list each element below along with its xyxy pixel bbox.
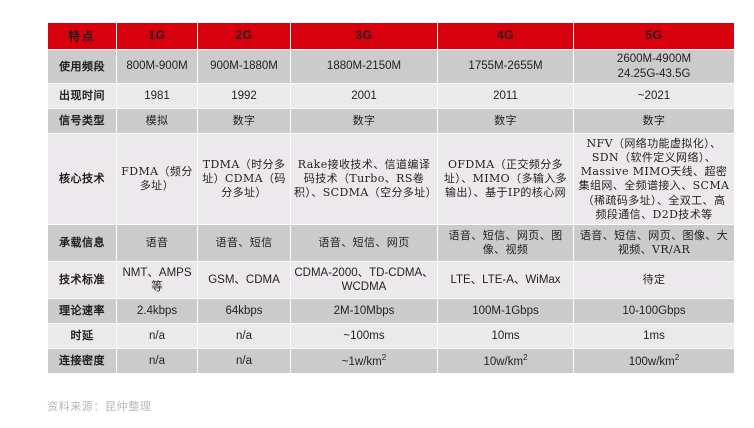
cell-latency-3g: ~100ms: [291, 324, 437, 348]
cell-theoretical-rate-1g: 2.4kbps: [117, 299, 197, 323]
header-3g: 3G: [291, 23, 437, 49]
cell-theoretical-rate-4g: 100M-1Gbps: [438, 299, 573, 323]
cell-core-technology-3g: Rake接收技术、信道编译码技术（Turbo、RS卷积）、SCDMA（空分多址）: [291, 134, 437, 224]
cell-core-technology-1g: FDMA（频分多址）: [117, 134, 197, 224]
cell-core-technology-2g: TDMA（时分多址）CDMA（码分多址）: [198, 134, 290, 224]
cell-frequency-band-3g: 1880M-2150M: [291, 50, 437, 83]
table-header-row: 特点 1G 2G 3G 4G 5G: [48, 23, 734, 49]
cell-frequency-band-1g: 800M-900M: [117, 50, 197, 83]
row-label-carried-information: 承载信息: [48, 225, 116, 261]
cell-appearance-time-4g: 2011: [438, 84, 573, 108]
cell-frequency-band-4g: 1755M-2655M: [438, 50, 573, 83]
cell-core-technology-5g: NFV（网络功能虚拟化）、SDN（软件定义网络）、Massive MIMO天线、…: [574, 134, 734, 224]
comparison-table: 特点 1G 2G 3G 4G 5G 使用频段 800M-900M 900M-18…: [47, 22, 735, 374]
row-label-connection-density: 连接密度: [48, 349, 116, 373]
slide-page: 特点 1G 2G 3G 4G 5G 使用频段 800M-900M 900M-18…: [0, 0, 754, 428]
header-1g: 1G: [117, 23, 197, 49]
generations-comparison-table: 特点 1G 2G 3G 4G 5G 使用频段 800M-900M 900M-18…: [47, 22, 731, 374]
header-feature: 特点: [48, 23, 116, 49]
table-body: 使用频段 800M-900M 900M-1880M 1880M-2150M 17…: [48, 50, 734, 373]
source-note: 资料来源：昆仲整理: [47, 398, 151, 414]
cell-connection-density-3g: ~1w/km2: [291, 349, 437, 373]
cell-carried-information-4g: 语音、短信、网页、图像、视频: [438, 225, 573, 261]
row-label-technical-standard: 技术标准: [48, 262, 116, 298]
cell-appearance-time-1g: 1981: [117, 84, 197, 108]
header-5g: 5G: [574, 23, 734, 49]
table-row: 使用频段 800M-900M 900M-1880M 1880M-2150M 17…: [48, 50, 734, 83]
table-row: 连接密度 n/a n/a ~1w/km2 10w/km2 100w/km2: [48, 349, 734, 373]
cell-carried-information-1g: 语音: [117, 225, 197, 261]
table-row: 信号类型 模拟 数字 数字 数字 数字: [48, 109, 734, 133]
cell-theoretical-rate-3g: 2M-10Mbps: [291, 299, 437, 323]
row-label-theoretical-rate: 理论速率: [48, 299, 116, 323]
row-label-signal-type: 信号类型: [48, 109, 116, 133]
cell-signal-type-4g: 数字: [438, 109, 573, 133]
cell-latency-2g: n/a: [198, 324, 290, 348]
table-row: 技术标准 NMT、AMPS等 GSM、CDMA CDMA-2000、TD-CDM…: [48, 262, 734, 298]
cell-carried-information-5g: 语音、短信、网页、图像、大视频、VR/AR: [574, 225, 734, 261]
cell-frequency-band-2g: 900M-1880M: [198, 50, 290, 83]
cell-frequency-band-5g: 2600M-4900M 24.25G-43.5G: [574, 50, 734, 83]
cell-connection-density-2g: n/a: [198, 349, 290, 373]
cell-carried-information-3g: 语音、短信、网页: [291, 225, 437, 261]
cell-latency-4g: 10ms: [438, 324, 573, 348]
cell-appearance-time-2g: 1992: [198, 84, 290, 108]
row-label-appearance-time: 出现时间: [48, 84, 116, 108]
cell-connection-density-4g: 10w/km2: [438, 349, 573, 373]
cell-carried-information-2g: 语音、短信: [198, 225, 290, 261]
cell-connection-density-1g: n/a: [117, 349, 197, 373]
cell-technical-standard-1g: NMT、AMPS等: [117, 262, 197, 298]
cell-core-technology-4g: OFDMA（正交频分多址）、MIMO（多输入多输出）、基于IP的核心网: [438, 134, 573, 224]
cell-technical-standard-3g: CDMA-2000、TD-CDMA、WCDMA: [291, 262, 437, 298]
header-4g: 4G: [438, 23, 573, 49]
header-2g: 2G: [198, 23, 290, 49]
row-label-core-technology: 核心技术: [48, 134, 116, 224]
cell-technical-standard-4g: LTE、LTE-A、WiMax: [438, 262, 573, 298]
row-label-latency: 时延: [48, 324, 116, 348]
cell-appearance-time-3g: 2001: [291, 84, 437, 108]
cell-signal-type-3g: 数字: [291, 109, 437, 133]
cell-signal-type-1g: 模拟: [117, 109, 197, 133]
cell-connection-density-5g: 100w/km2: [574, 349, 734, 373]
cell-technical-standard-2g: GSM、CDMA: [198, 262, 290, 298]
row-label-frequency-band: 使用频段: [48, 50, 116, 83]
table-row: 承载信息 语音 语音、短信 语音、短信、网页 语音、短信、网页、图像、视频 语音…: [48, 225, 734, 261]
cell-signal-type-5g: 数字: [574, 109, 734, 133]
cell-latency-5g: 1ms: [574, 324, 734, 348]
cell-theoretical-rate-5g: 10-100Gbps: [574, 299, 734, 323]
cell-theoretical-rate-2g: 64kbps: [198, 299, 290, 323]
table-row: 核心技术 FDMA（频分多址） TDMA（时分多址）CDMA（码分多址） Rak…: [48, 134, 734, 224]
cell-appearance-time-5g: ~2021: [574, 84, 734, 108]
table-row: 时延 n/a n/a ~100ms 10ms 1ms: [48, 324, 734, 348]
table-row: 理论速率 2.4kbps 64kbps 2M-10Mbps 100M-1Gbps…: [48, 299, 734, 323]
cell-latency-1g: n/a: [117, 324, 197, 348]
table-head: 特点 1G 2G 3G 4G 5G: [48, 23, 734, 49]
cell-technical-standard-5g: 待定: [574, 262, 734, 298]
table-row: 出现时间 1981 1992 2001 2011 ~2021: [48, 84, 734, 108]
cell-signal-type-2g: 数字: [198, 109, 290, 133]
